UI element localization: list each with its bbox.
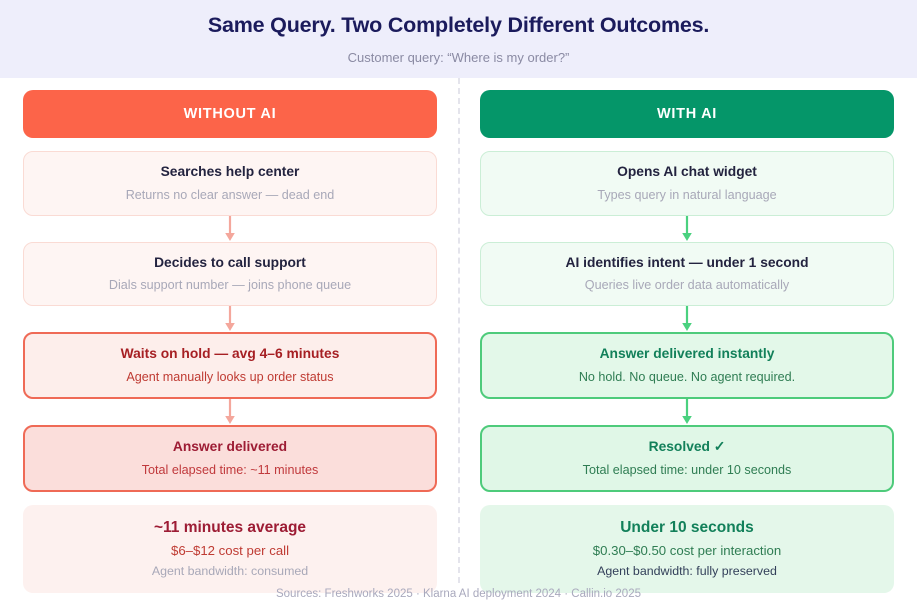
page-title: Same Query. Two Completely Different Out…	[208, 13, 709, 39]
step-title: Answer delivered instantly	[600, 345, 775, 364]
page-header: Same Query. Two Completely Different Out…	[0, 0, 917, 78]
step-card-waits-on-hold: Waits on hold — avg 4–6 minutes Agent ma…	[23, 332, 437, 399]
step-subtitle: Total elapsed time: under 10 seconds	[583, 462, 792, 479]
summary-card-without-ai: ~11 minutes average $6–$12 cost per call…	[23, 505, 437, 593]
step-title: Waits on hold — avg 4–6 minutes	[121, 345, 340, 364]
spacer	[23, 138, 437, 151]
flow-arrow-down-icon	[23, 216, 437, 242]
column-header-with-ai: WITH AI	[480, 90, 894, 138]
summary-headline: ~11 minutes average	[154, 518, 306, 538]
step-title: AI identifies intent — under 1 second	[565, 254, 808, 273]
column-without-ai: WITHOUT AI Searches help center Returns …	[23, 90, 437, 593]
flow-arrow-down-icon	[23, 306, 437, 332]
step-card-answer-delivered: Answer delivered Total elapsed time: ~11…	[23, 425, 437, 492]
column-header-without-ai: WITHOUT AI	[23, 90, 437, 138]
step-card-resolved: Resolved ✓ Total elapsed time: under 10 …	[480, 425, 894, 492]
flow-arrow-down-icon	[480, 216, 894, 242]
spacer	[480, 138, 894, 151]
step-card-searches-help-center: Searches help center Returns no clear an…	[23, 151, 437, 216]
spacer	[480, 492, 894, 505]
flow-arrow-down-icon	[480, 306, 894, 332]
step-title: Decides to call support	[154, 254, 306, 273]
spacer	[23, 492, 437, 505]
step-subtitle: Dials support number — joins phone queue	[109, 277, 351, 294]
step-card-opens-ai-chat-widget: Opens AI chat widget Types query in natu…	[480, 151, 894, 216]
flow-arrow-down-icon	[480, 399, 894, 425]
column-with-ai: WITH AI Opens AI chat widget Types query…	[480, 90, 894, 593]
step-subtitle: No hold. No queue. No agent required.	[579, 369, 795, 386]
summary-card-with-ai: Under 10 seconds $0.30–$0.50 cost per in…	[480, 505, 894, 593]
flow-arrow-down-icon	[23, 399, 437, 425]
step-title: Searches help center	[161, 163, 300, 182]
summary-headline: Under 10 seconds	[620, 518, 754, 538]
sources-footer: Sources: Freshworks 2025 · Klarna AI dep…	[0, 588, 917, 600]
step-title: Resolved ✓	[649, 438, 726, 457]
step-subtitle: Agent manually looks up order status	[126, 369, 333, 386]
summary-cost: $0.30–$0.50 cost per interaction	[593, 542, 781, 559]
comparison-board: WITHOUT AI Searches help center Returns …	[0, 78, 917, 608]
step-card-answer-delivered-instantly: Answer delivered instantly No hold. No q…	[480, 332, 894, 399]
column-divider	[458, 78, 460, 583]
step-title: Opens AI chat widget	[617, 163, 757, 182]
summary-bandwidth: Agent bandwidth: fully preserved	[597, 563, 777, 579]
step-subtitle: Types query in natural language	[597, 187, 776, 204]
step-card-ai-identifies-intent: AI identifies intent — under 1 second Qu…	[480, 242, 894, 307]
summary-cost: $6–$12 cost per call	[171, 542, 289, 559]
step-card-decides-to-call-support: Decides to call support Dials support nu…	[23, 242, 437, 307]
page-subtitle: Customer query: “Where is my order?”	[348, 50, 570, 65]
step-subtitle: Queries live order data automatically	[585, 277, 789, 294]
step-subtitle: Returns no clear answer — dead end	[126, 187, 335, 204]
step-title: Answer delivered	[173, 438, 287, 457]
step-subtitle: Total elapsed time: ~11 minutes	[142, 462, 319, 479]
summary-bandwidth: Agent bandwidth: consumed	[152, 563, 308, 579]
